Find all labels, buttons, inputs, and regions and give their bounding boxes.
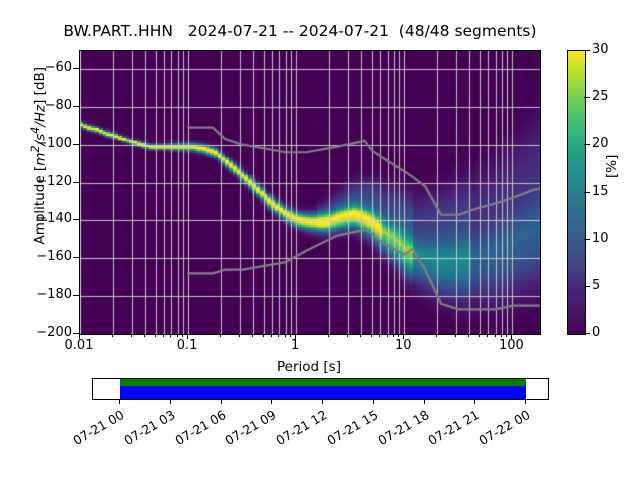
x-tick-mark bbox=[501, 334, 502, 337]
coverage-tick-label: 07-21 12 bbox=[268, 407, 329, 451]
coverage-tick-label: 07-21 03 bbox=[116, 407, 177, 451]
colorbar-tick-label: 0 bbox=[592, 326, 632, 339]
x-tick-label: 1 bbox=[260, 338, 330, 353]
x-tick-mark bbox=[398, 334, 399, 337]
coverage-tick-mark bbox=[322, 399, 323, 404]
x-tick-mark bbox=[360, 334, 361, 337]
y-tick-mark bbox=[73, 219, 79, 220]
x-tick-mark bbox=[155, 334, 156, 337]
colorbar-tick-label: 30 bbox=[592, 43, 632, 56]
coverage-tick-label: 07-22 00 bbox=[471, 407, 532, 451]
colorbar-tick-mark bbox=[584, 192, 590, 193]
colorbar-tick-mark bbox=[584, 50, 590, 51]
x-tick-label: 0.01 bbox=[44, 338, 114, 353]
x-tick-mark bbox=[278, 334, 279, 337]
x-tick-mark bbox=[170, 334, 171, 337]
colorbar-tick-mark bbox=[584, 286, 590, 287]
coverage-tick-mark bbox=[119, 399, 120, 404]
colorbar-tick-label: 10 bbox=[592, 232, 632, 245]
y-tick-mark bbox=[73, 144, 79, 145]
x-tick-mark bbox=[468, 334, 469, 337]
colorbar-tick-label: 20 bbox=[592, 137, 632, 150]
plot-title: BW.PART..HHN 2024-07-21 -- 2024-07-21 (4… bbox=[0, 22, 600, 40]
x-tick-mark bbox=[393, 334, 394, 337]
coverage-tick-mark bbox=[170, 399, 171, 404]
x-tick-mark bbox=[177, 334, 178, 337]
x-tick-mark bbox=[285, 334, 286, 337]
x-tick-mark bbox=[290, 334, 291, 337]
x-tick-mark bbox=[479, 334, 480, 337]
y-axis-label-text: Amplitude [m2/s4/Hz] [dB] bbox=[32, 67, 48, 245]
x-tick-mark bbox=[495, 334, 496, 337]
coverage-tick-mark bbox=[373, 399, 374, 404]
x-tick-mark bbox=[387, 334, 388, 337]
x-tick-mark bbox=[220, 334, 221, 337]
coverage-tick-label: 07-21 06 bbox=[167, 407, 228, 451]
coverage-tick-mark bbox=[474, 399, 475, 404]
colorbar-tick-mark bbox=[584, 97, 590, 98]
colorbar-tick-mark bbox=[584, 239, 590, 240]
colorbar-tick-label: 25 bbox=[592, 90, 632, 103]
coverage-tick-mark bbox=[221, 399, 222, 404]
data-coverage-bar[interactable] bbox=[92, 378, 549, 400]
x-axis-label: Period [s] bbox=[79, 359, 539, 375]
x-tick-mark bbox=[252, 334, 253, 337]
colorbar-tick-label: 5 bbox=[592, 279, 632, 292]
x-tick-mark bbox=[328, 334, 329, 337]
x-tick-mark bbox=[163, 334, 164, 337]
coverage-tick-label: 07-21 15 bbox=[319, 407, 380, 451]
x-tick-label: 100 bbox=[476, 338, 546, 353]
x-tick-mark bbox=[144, 334, 145, 337]
colorbar-tick-label: 15 bbox=[592, 185, 632, 198]
x-tick-mark bbox=[379, 334, 380, 337]
colorbar-tick-mark bbox=[584, 333, 590, 334]
x-tick-mark bbox=[455, 334, 456, 337]
x-tick-mark bbox=[487, 334, 488, 337]
x-tick-mark bbox=[131, 334, 132, 337]
coverage-tick-mark bbox=[271, 399, 272, 404]
x-tick-mark bbox=[371, 334, 372, 337]
colorbar-unit-label: [%] bbox=[604, 155, 620, 178]
ppsd-density-canvas bbox=[80, 51, 540, 334]
y-tick-mark bbox=[73, 295, 79, 296]
y-tick-mark bbox=[73, 182, 79, 183]
x-tick-label: 0.1 bbox=[152, 338, 222, 353]
coverage-tick-label: 07-21 21 bbox=[421, 407, 482, 451]
y-tick-mark bbox=[73, 257, 79, 258]
x-tick-mark bbox=[112, 334, 113, 337]
y-axis-label: Amplitude [m2/s4/Hz] [dB] bbox=[28, 11, 48, 301]
coverage-tick-mark bbox=[525, 399, 526, 404]
colorbar[interactable] bbox=[567, 50, 586, 335]
coverage-tick-mark bbox=[424, 399, 425, 404]
coverage-segment-blue bbox=[120, 386, 526, 399]
x-tick-mark bbox=[239, 334, 240, 337]
y-tick-mark bbox=[73, 68, 79, 69]
colorbar-tick-mark bbox=[584, 144, 590, 145]
x-tick-mark bbox=[347, 334, 348, 337]
ppsd-plot-area[interactable] bbox=[79, 50, 541, 335]
x-tick-mark bbox=[436, 334, 437, 337]
coverage-tick-label: 07-21 09 bbox=[218, 407, 279, 451]
x-tick-label: 10 bbox=[368, 338, 438, 353]
x-tick-mark bbox=[271, 334, 272, 337]
y-tick-mark bbox=[73, 106, 79, 107]
coverage-tick-label: 07-21 00 bbox=[65, 407, 126, 451]
coverage-segment-green bbox=[120, 379, 526, 386]
coverage-tick-label: 07-21 18 bbox=[370, 407, 431, 451]
x-tick-mark bbox=[263, 334, 264, 337]
x-tick-mark bbox=[182, 334, 183, 337]
ppsd-figure: BW.PART..HHN 2024-07-21 -- 2024-07-21 (4… bbox=[0, 0, 640, 480]
x-tick-mark bbox=[506, 334, 507, 337]
